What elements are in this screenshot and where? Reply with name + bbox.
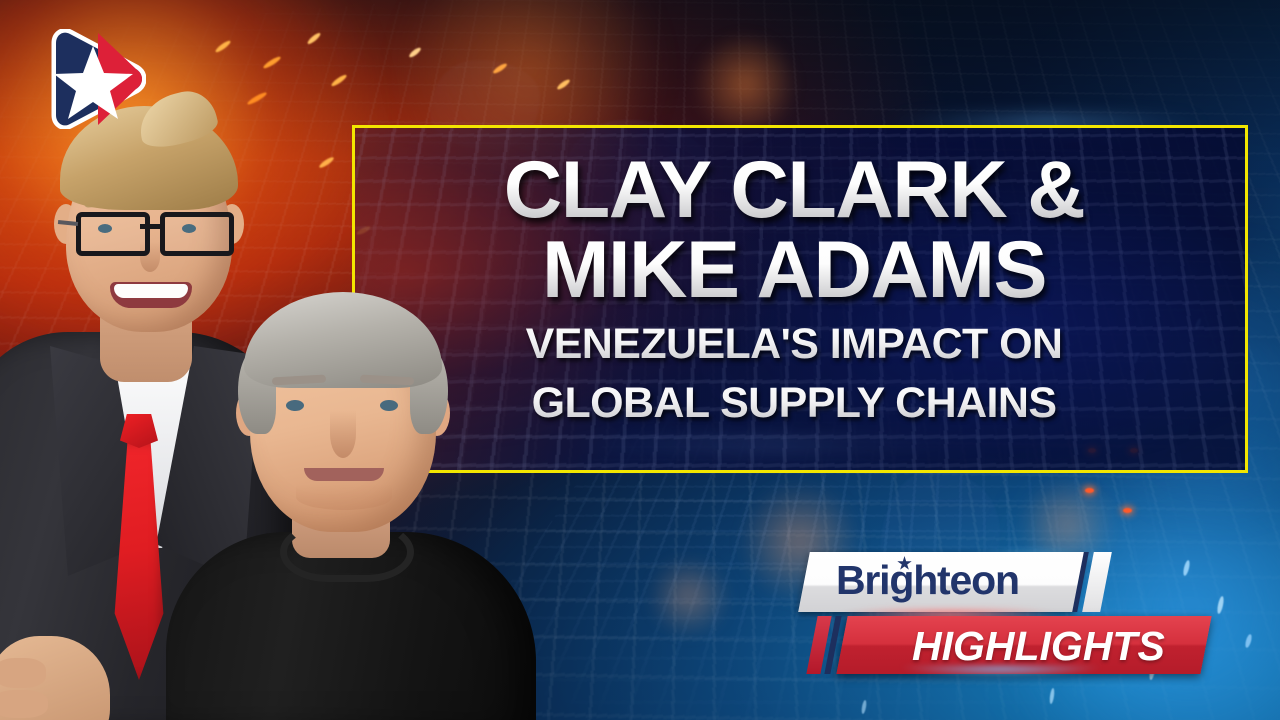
clay-smile bbox=[110, 282, 192, 308]
person-mike-adams bbox=[188, 270, 518, 720]
mike-chin-shadow bbox=[296, 484, 392, 510]
video-thumbnail-stage: CLAY CLARK & MIKE ADAMS VENEZUELA'S IMPA… bbox=[0, 0, 1280, 720]
clay-finger bbox=[0, 658, 46, 688]
mike-eye-left bbox=[286, 400, 304, 411]
brand-name-text: Brighteon bbox=[836, 557, 1019, 604]
clay-glasses-lens-left bbox=[76, 212, 150, 256]
ember-spark bbox=[1123, 508, 1132, 513]
ember-spark bbox=[1085, 488, 1094, 493]
clay-eyeglasses bbox=[74, 212, 226, 248]
clay-finger bbox=[0, 690, 48, 718]
clay-glasses-lens-right bbox=[160, 212, 234, 256]
headline-line-1: CLAY CLARK & bbox=[355, 150, 1233, 230]
brighteon-highlights-lower-third: Brighteon HIGHLIGHTS bbox=[790, 552, 1220, 680]
mike-smile bbox=[304, 468, 384, 481]
brighteon-play-icon[interactable] bbox=[36, 29, 146, 129]
mike-nose bbox=[330, 410, 356, 458]
brand-bottom-glow bbox=[886, 666, 1116, 682]
mike-eye-right bbox=[380, 400, 398, 411]
mike-hair bbox=[244, 292, 442, 388]
show-label-text: HIGHLIGHTS bbox=[912, 623, 1165, 670]
clay-teeth bbox=[114, 284, 188, 298]
clay-glasses-bridge bbox=[140, 224, 162, 229]
